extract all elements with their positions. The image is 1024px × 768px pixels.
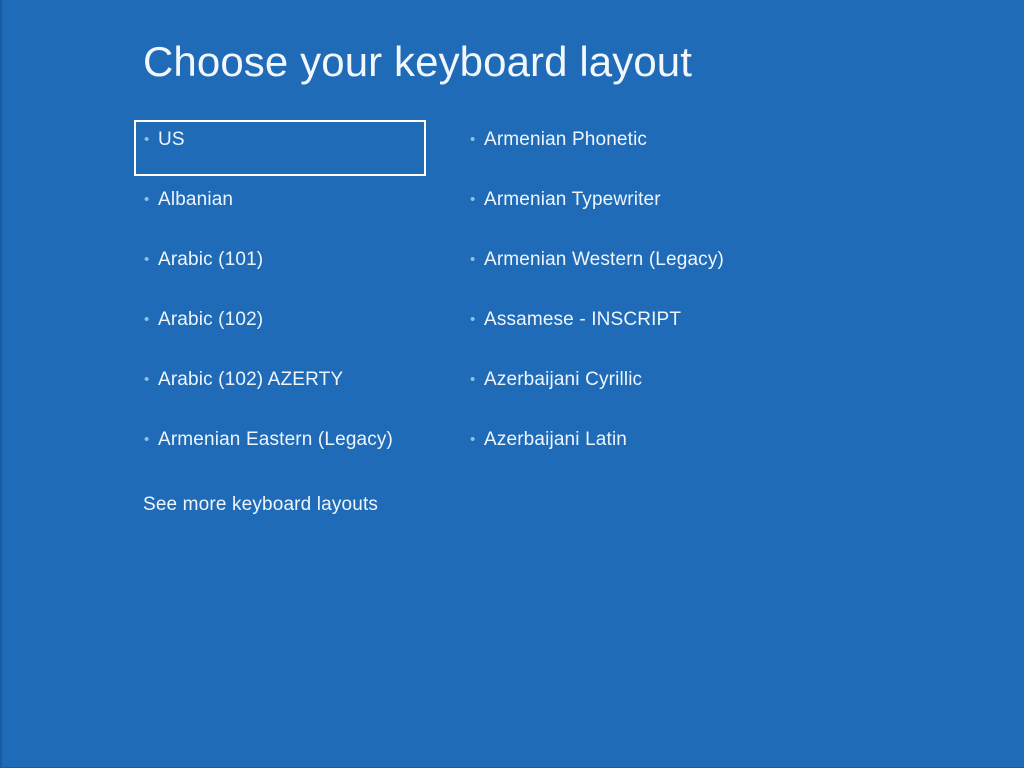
bullet-icon: • — [470, 247, 484, 273]
layout-option-label: Arabic (102) AZERTY — [158, 367, 343, 393]
layout-option[interactable]: •Assamese - INSCRIPT — [460, 300, 790, 360]
keyboard-layout-screen: Choose your keyboard layout •US•Albanian… — [0, 0, 1024, 768]
layout-option[interactable]: •Azerbaijani Cyrillic — [460, 360, 790, 420]
layout-option[interactable]: •Arabic (102) — [134, 300, 434, 360]
layout-option-label: Arabic (102) — [158, 307, 263, 333]
layout-option[interactable]: •Armenian Phonetic — [460, 120, 790, 180]
layout-option-label: US — [158, 127, 185, 153]
layout-option-label: Albanian — [158, 187, 233, 213]
bullet-icon: • — [470, 367, 484, 393]
bullet-icon: • — [144, 127, 158, 153]
see-more-keyboard-layouts-link[interactable]: See more keyboard layouts — [143, 492, 378, 518]
layout-option-selected[interactable]: •US — [134, 120, 426, 176]
layout-option[interactable]: •Azerbaijani Latin — [460, 420, 790, 480]
layout-list-left-column: •US•Albanian•Arabic (101)•Arabic (102)•A… — [134, 120, 434, 480]
bullet-icon: • — [144, 187, 158, 213]
layout-option-label: Assamese - INSCRIPT — [484, 307, 681, 333]
bullet-icon: • — [144, 247, 158, 273]
layout-option[interactable]: •Armenian Western (Legacy) — [460, 240, 790, 300]
layout-option-label: Azerbaijani Latin — [484, 427, 627, 453]
layout-option-label: Armenian Typewriter — [484, 187, 661, 213]
layout-option-label: Armenian Western (Legacy) — [484, 247, 724, 273]
bullet-icon: • — [470, 307, 484, 333]
page-title: Choose your keyboard layout — [143, 36, 692, 88]
layout-option[interactable]: •Arabic (101) — [134, 240, 434, 300]
layout-option[interactable]: •Arabic (102) AZERTY — [134, 360, 434, 420]
layout-option-label: Armenian Eastern (Legacy) — [158, 427, 393, 453]
layout-option[interactable]: •Armenian Eastern (Legacy) — [134, 420, 434, 480]
bullet-icon: • — [144, 307, 158, 333]
bullet-icon: • — [470, 127, 484, 153]
layout-option-label: Armenian Phonetic — [484, 127, 647, 153]
layout-list-right-column: •Armenian Phonetic•Armenian Typewriter•A… — [460, 120, 790, 480]
bullet-icon: • — [144, 427, 158, 453]
layout-option-label: Arabic (101) — [158, 247, 263, 273]
bullet-icon: • — [470, 187, 484, 213]
layout-option-label: Azerbaijani Cyrillic — [484, 367, 642, 393]
bullet-icon: • — [144, 367, 158, 393]
layout-option[interactable]: •Albanian — [134, 180, 434, 240]
bullet-icon: • — [470, 427, 484, 453]
layout-option[interactable]: •Armenian Typewriter — [460, 180, 790, 240]
